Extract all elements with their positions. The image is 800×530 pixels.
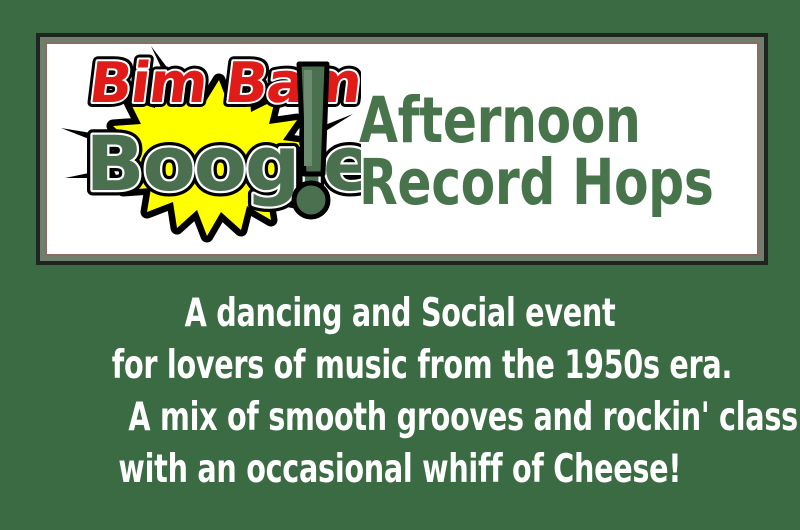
poster-canvas: Boogie Boogie Boogie Bim Bam Bim Bam Bim… (0, 0, 800, 530)
headline-block: Afternoon Record Hops (359, 52, 759, 252)
blurb-line-3-text: A mix of smooth grooves and rockin' clas… (128, 392, 800, 444)
blurb-line-4: with an occasional whiff of Cheese! (0, 444, 800, 496)
blurb-line-1-text: A dancing and Social event (185, 288, 616, 340)
banner-inner-panel: Boogie Boogie Boogie Bim Bam Bim Bam Bim… (45, 42, 759, 256)
headline-line-2: Record Hops (359, 152, 713, 214)
bim-bam-boogie-logo: Boogie Boogie Boogie Bim Bam Bim Bam Bim… (61, 42, 361, 256)
blurb-line-1: A dancing and Social event (0, 288, 800, 340)
headline-line-1: Afternoon (359, 90, 640, 152)
blurb-line-3: A mix of smooth grooves and rockin' clas… (0, 392, 800, 444)
blurb-block: A dancing and Social event for lovers of… (0, 288, 800, 495)
blurb-line-2: for lovers of music from the 1950s era. (0, 340, 800, 392)
blurb-line-4-text: with an occasional whiff of Cheese! (119, 444, 682, 496)
blurb-line-2-text: for lovers of music from the 1950s era. (112, 340, 732, 392)
banner-frame: Boogie Boogie Boogie Bim Bam Bim Bam Bim… (36, 33, 768, 265)
